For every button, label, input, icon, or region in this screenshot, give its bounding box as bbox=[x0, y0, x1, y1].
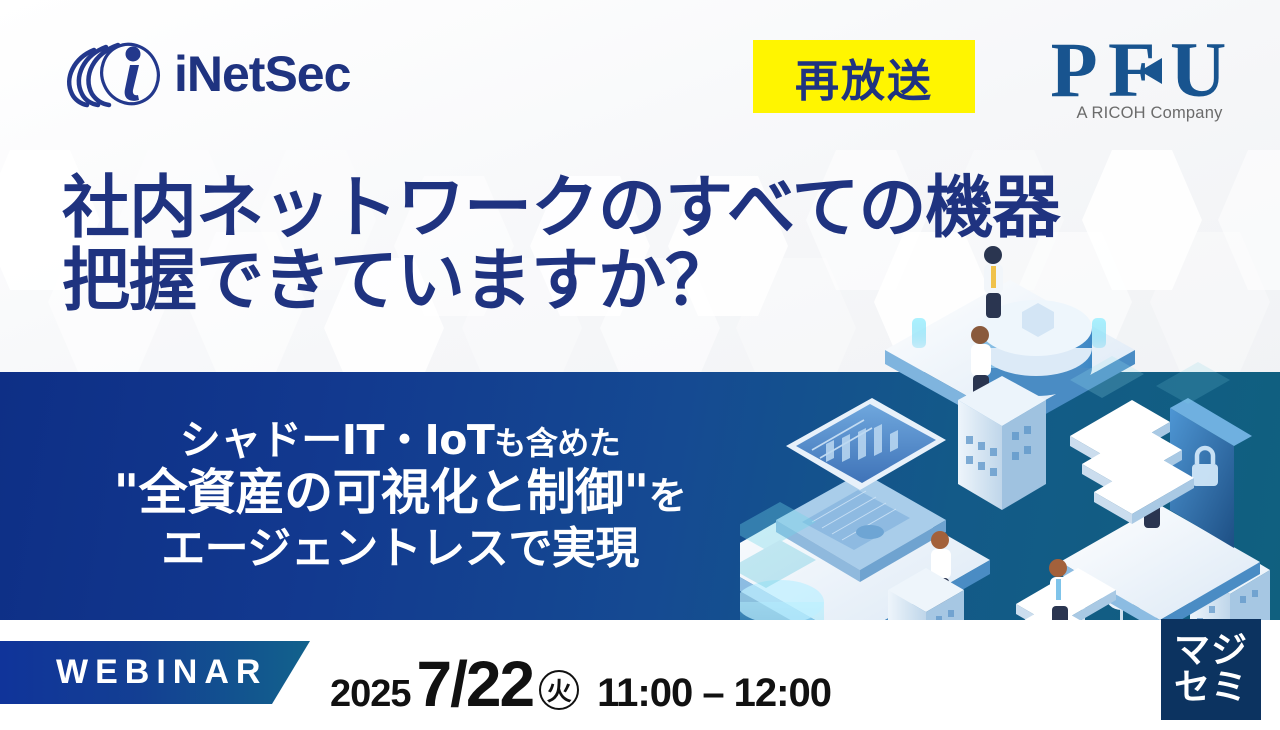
organizer-logo-line-1: マジ bbox=[1174, 633, 1248, 670]
subheadline-line-2-tail: を bbox=[649, 475, 687, 519]
organizer-logo: マジ セミ bbox=[1161, 619, 1261, 720]
subheadline-line-1-tail: も含めた bbox=[494, 424, 620, 462]
subheadline-line-1: シャドーIT・IoTも含めた bbox=[0, 417, 800, 464]
inetsec-logo: iNetSec bbox=[60, 38, 350, 110]
event-month-day: 7/22 bbox=[417, 647, 534, 721]
webinar-tab: WEBINAR bbox=[0, 641, 310, 704]
subheadline-line-2: "全資産の可視化と制御"を bbox=[0, 465, 800, 521]
pfu-wordmark-icon: P F U bbox=[1052, 38, 1247, 100]
subheadline-line-3-tail: で実現 bbox=[508, 523, 639, 574]
banner-footer: WEBINAR 2025 7/22 火 11:00 – 12:00 bbox=[0, 620, 1280, 730]
svg-text:P: P bbox=[1052, 38, 1098, 100]
inetsec-swoosh-i-icon bbox=[60, 38, 172, 110]
event-time-range: 11:00 – 12:00 bbox=[597, 671, 831, 716]
webinar-label: WEBINAR bbox=[56, 653, 267, 692]
event-datetime: 2025 7/22 火 11:00 – 12:00 bbox=[330, 647, 831, 721]
headline-line-2: 把握できていますか？ bbox=[62, 245, 1060, 318]
subheadline: シャドーIT・IoTも含めた "全資産の可視化と制御"を エージェントレスで実現 bbox=[0, 372, 800, 620]
event-year: 2025 bbox=[330, 673, 411, 716]
banner-header: iNetSec 再放送 P F U A RICOH Company bbox=[0, 0, 1280, 150]
headline-line-1: 社内ネットワークのすべての機器 bbox=[62, 172, 1060, 245]
rebroadcast-label: 再放送 bbox=[795, 45, 933, 109]
inetsec-wordmark: iNetSec bbox=[174, 49, 350, 99]
subheadline-line-1-main: シャドーIT・IoT bbox=[180, 416, 495, 464]
pfu-logo: P F U A RICOH Company bbox=[1052, 38, 1247, 123]
page-title: 社内ネットワークのすべての機器 把握できていますか？ bbox=[62, 172, 1060, 319]
rebroadcast-badge: 再放送 bbox=[753, 40, 975, 113]
subheadline-line-3-main: エージェントレス bbox=[161, 523, 508, 574]
subheadline-line-2-main: "全資産の可視化と制御" bbox=[114, 464, 649, 521]
subheadline-line-3: エージェントレスで実現 bbox=[0, 523, 800, 575]
pfu-tagline: A RICOH Company bbox=[1052, 104, 1247, 123]
svg-text:U: U bbox=[1170, 38, 1226, 100]
webinar-banner: iNetSec 再放送 P F U A RICOH Company 社内ネットワ… bbox=[0, 0, 1280, 730]
organizer-logo-line-2: セミ bbox=[1174, 670, 1248, 707]
event-day-of-week: 火 bbox=[539, 670, 579, 710]
